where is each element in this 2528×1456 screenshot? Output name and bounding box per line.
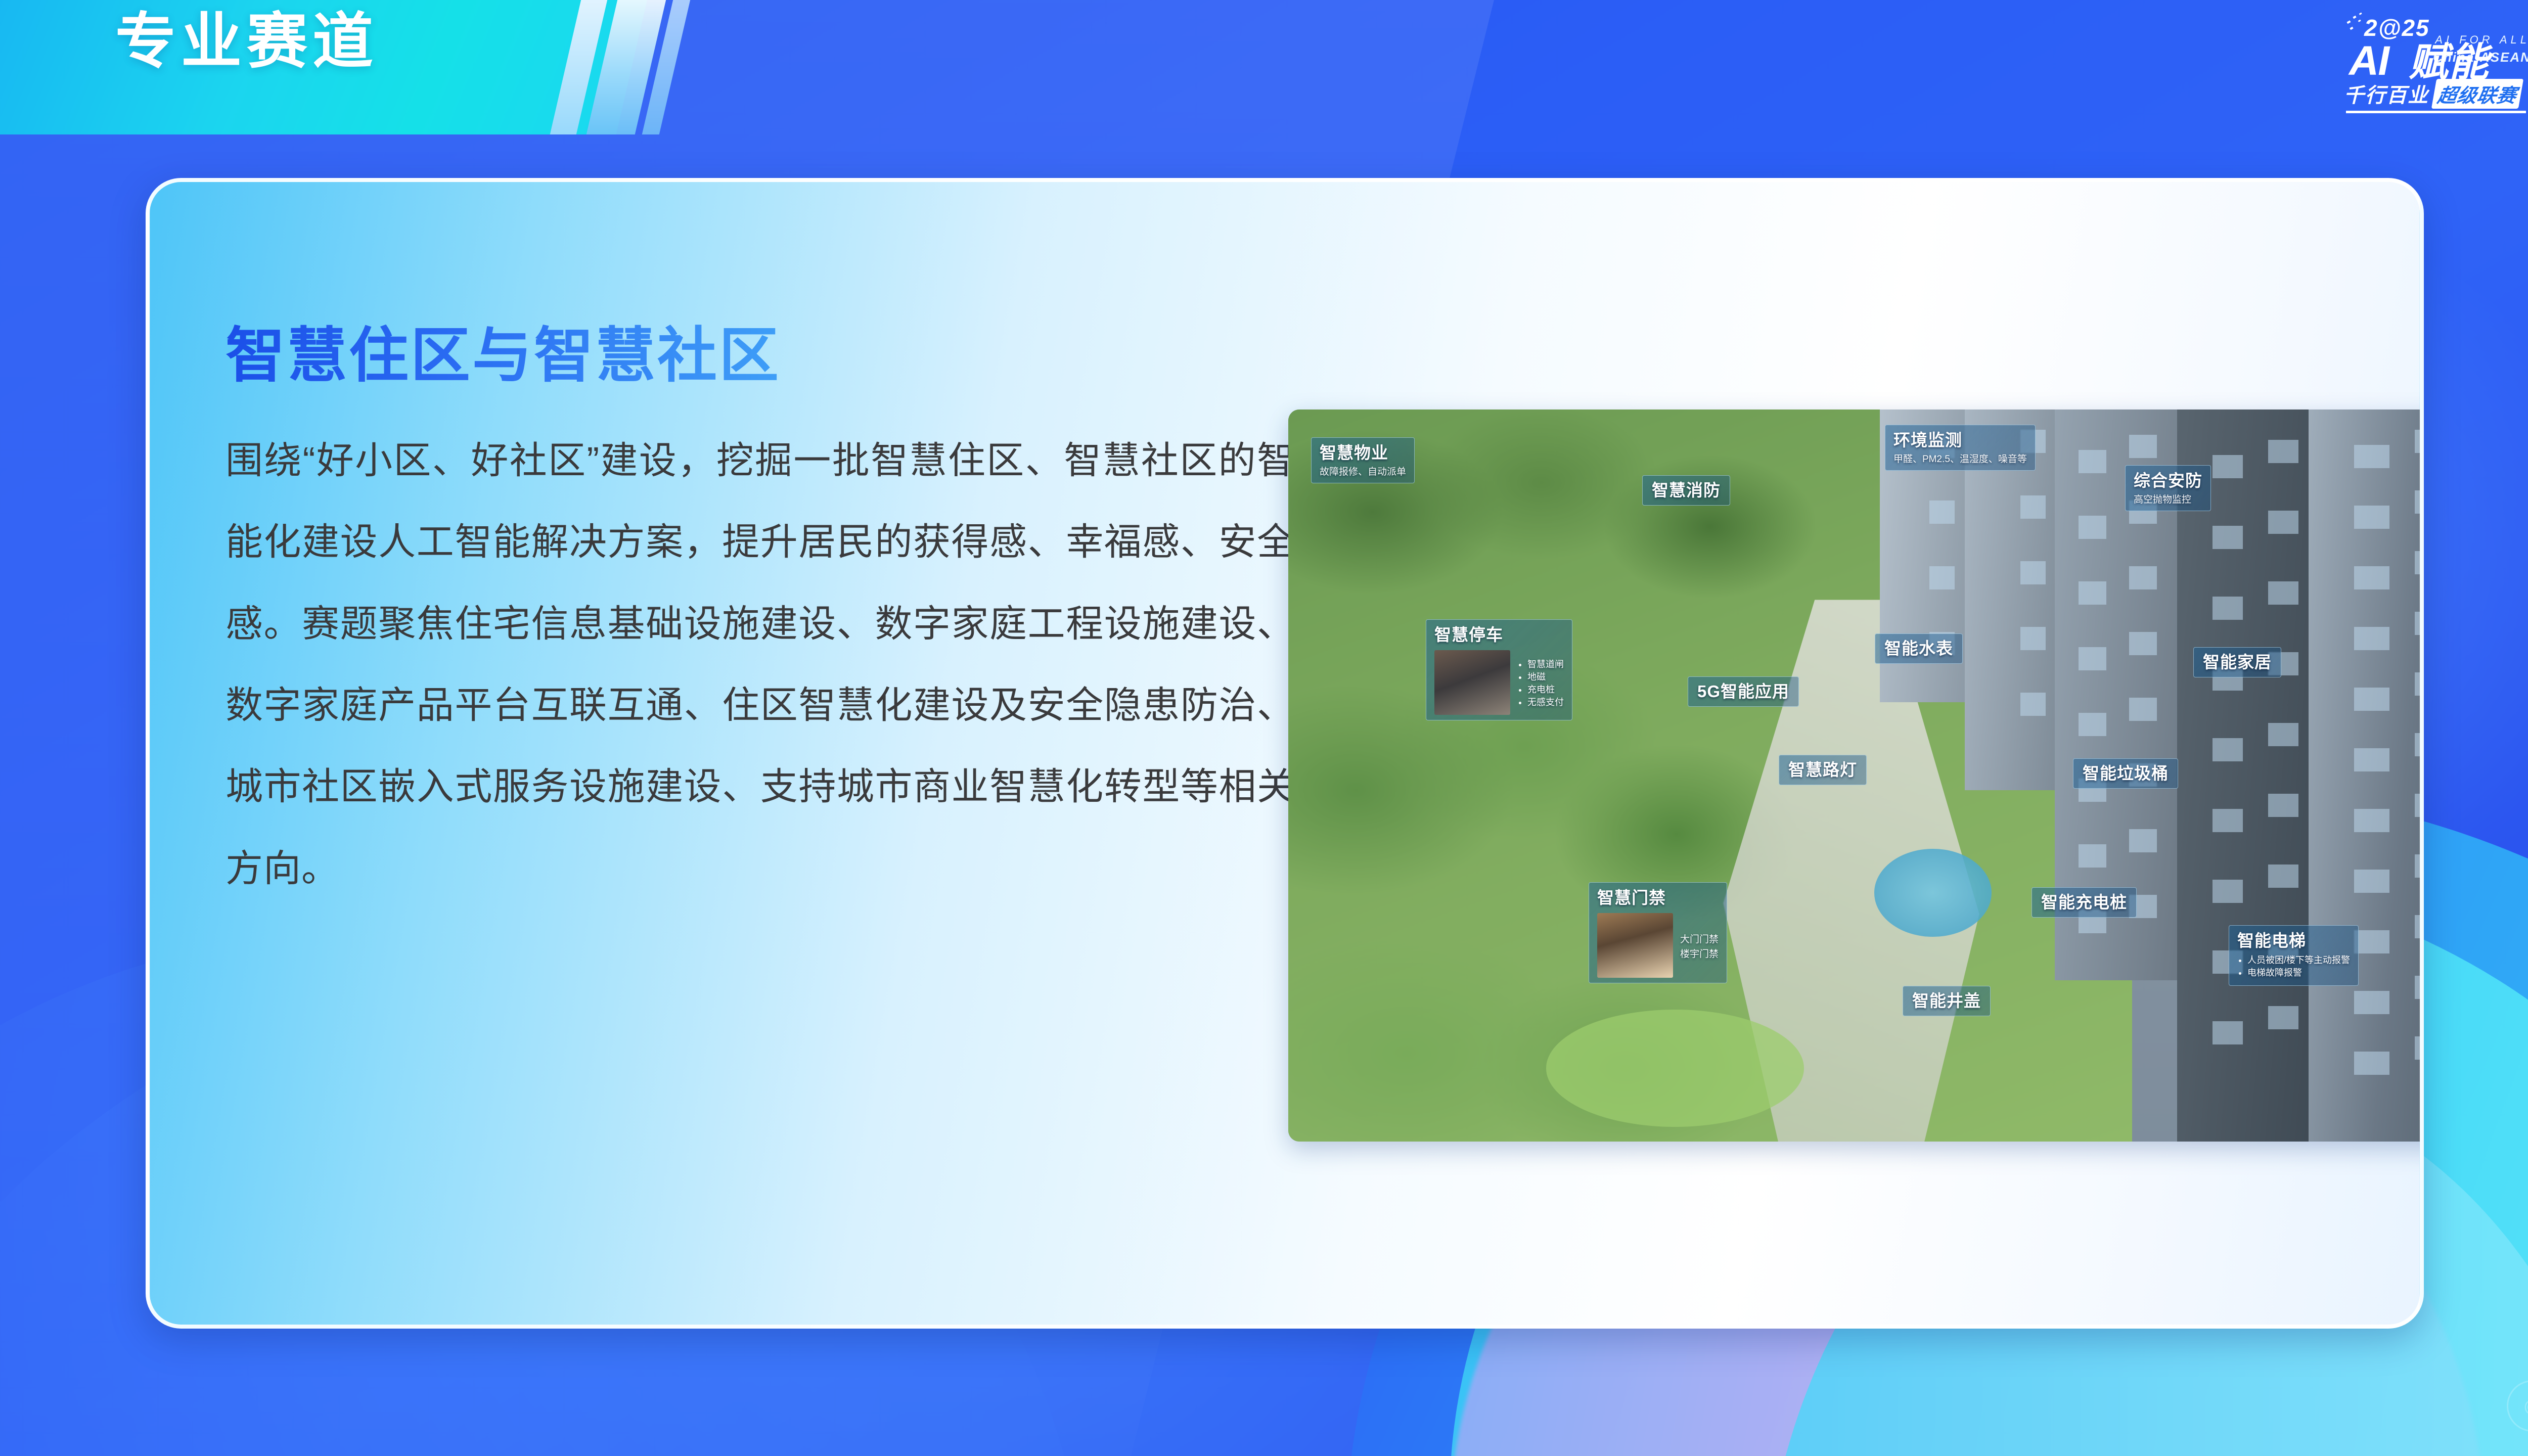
window [2213, 809, 2243, 832]
callout-list-item: 无感支付 [1527, 697, 1564, 708]
window [2213, 880, 2243, 903]
body-text: 围绕“好小区、好社区”建设，挖掘一批智慧住区、智慧社区的智能化建设人工智能解决方… [225, 420, 1295, 909]
window [2129, 435, 2157, 458]
logo-year: 2@25 [2364, 14, 2430, 41]
callout-title: 智能水表 [1884, 639, 1953, 659]
callout-title: 智慧消防 [1652, 480, 1721, 500]
body-paragraph: 围绕“好小区、好社区”建设，挖掘一批智慧住区、智慧社区的智能化建设人工智能解决方… [225, 420, 1295, 909]
callout-title: 智能家居 [2203, 652, 2272, 672]
window [2129, 698, 2157, 721]
window [2213, 597, 2243, 620]
callout-list-item: 智慧道闸 [1527, 659, 1564, 670]
callout-title: 智能充电桩 [2041, 892, 2127, 913]
lawn [1546, 1010, 1804, 1127]
logo-subtitle-bar: 千行百业 超级联赛 [2344, 81, 2528, 106]
callout-subtitle: 故障报修、自动派单 [1320, 466, 1406, 478]
callout-title: 环境监测 [1893, 430, 2027, 450]
callout-subtitle: 楼宇门禁 [1680, 948, 1719, 960]
callout-smart-parking: 智慧停车智慧道闸地磁充电桩无感支付 [1426, 619, 1572, 720]
page-title: 智慧住区与智慧社区 [225, 324, 781, 389]
pond [1874, 849, 1992, 937]
callout-detail: 智慧道闸地磁充电桩无感支付 [1517, 655, 1564, 710]
window [2213, 738, 2243, 761]
window [2415, 490, 2424, 514]
callout-detail: 大门门禁楼宇门禁 [1680, 931, 1719, 960]
window [2020, 627, 2046, 650]
callout-title: 智慧停车 [1434, 625, 1564, 645]
callout-title: 智能井盖 [1912, 991, 1981, 1011]
header-title: 专业赛道 [115, 11, 378, 72]
window [2268, 864, 2298, 888]
callout-title: 智慧物业 [1320, 443, 1406, 463]
callout-ev-charging: 智能充电桩 [2032, 887, 2137, 918]
callout-title: 综合安防 [2134, 471, 2202, 491]
window [2354, 930, 2389, 953]
window [2020, 561, 2046, 584]
callout-5g-app: 5G智能应用 [1688, 676, 1799, 707]
callout-thumbnail [1434, 650, 1510, 715]
window [2415, 915, 2424, 938]
callout-smart-manhole: 智能井盖 [1903, 986, 1991, 1016]
window [2129, 566, 2157, 589]
window [2354, 991, 2389, 1014]
window [2268, 1006, 2298, 1029]
callout-title: 5G智能应用 [1697, 681, 1789, 702]
window [2354, 870, 2389, 893]
window [2079, 647, 2106, 670]
window [2415, 430, 2424, 453]
window [2415, 733, 2424, 756]
window [2129, 829, 2157, 852]
callout-list-item: 充电桩 [1527, 685, 1564, 696]
content-card: 智慧住区与智慧社区 围绕“好小区、好社区”建设，挖掘一批智慧住区、智慧社区的智能… [146, 178, 2424, 1329]
window [2079, 581, 2106, 605]
window [2268, 440, 2298, 463]
callout-list: 智慧道闸地磁充电桩无感支付 [1517, 659, 1564, 708]
logo-ai-text: AI [2349, 40, 2388, 82]
callout-subtitle: 高空抛物监控 [2134, 494, 2202, 506]
window [2415, 976, 2424, 999]
window [2213, 526, 2243, 549]
window [2268, 511, 2298, 534]
window [2354, 1052, 2389, 1075]
window [2415, 672, 2424, 696]
window [2268, 723, 2298, 746]
window [2354, 688, 2389, 711]
window [2020, 693, 2046, 716]
window [2415, 1036, 2424, 1060]
logo-name-cn: 赋能 [2409, 42, 2490, 82]
window [2079, 713, 2106, 736]
callout-smart-home: 智能家居 [2193, 647, 2281, 677]
callout-list-item: 电梯故障报警 [2247, 968, 2350, 979]
window [2354, 445, 2389, 468]
window [2079, 450, 2106, 473]
logo-badge-cn: 超级联赛 [2431, 79, 2523, 109]
community-illustration: 智慧物业故障报修、自动派单智慧消防环境监测甲醛、PM2.5、温湿度、噪音等综合安… [1288, 409, 2424, 1142]
callout-list: 人员被困/楼下等主动报警电梯故障报警 [2237, 955, 2350, 979]
window [2354, 748, 2389, 771]
logo-sub-cn: 千行百业 [2344, 79, 2429, 108]
callout-smart-access: 智慧门禁大门门禁楼宇门禁 [1589, 882, 1727, 983]
window [2354, 809, 2389, 832]
callout-smart-streetlight: 智慧路灯 [1779, 755, 1867, 785]
window [2415, 794, 2424, 817]
callout-title: 智能垃圾桶 [2083, 763, 2169, 784]
callout-thumbnail [1597, 913, 1673, 978]
window [2354, 566, 2389, 589]
window [2213, 455, 2243, 478]
window [2129, 632, 2157, 655]
callout-title: 智慧门禁 [1597, 888, 1719, 908]
callout-smart-water-meter: 智能水表 [1875, 633, 1963, 664]
callout-smart-property: 智慧物业故障报修、自动派单 [1311, 437, 1415, 483]
slide-header: 专业赛道 [0, 0, 738, 134]
window [2415, 551, 2424, 574]
callout-title: 智能电梯 [2237, 931, 2350, 951]
window [2268, 794, 2298, 817]
window [2354, 627, 2389, 650]
callout-title: 智慧路灯 [1788, 760, 1857, 780]
window [1929, 500, 1955, 524]
window [2079, 844, 2106, 868]
window [2213, 1021, 2243, 1044]
callout-subtitle: 甲醛、PM2.5、温湿度、噪音等 [1893, 453, 2027, 465]
window [2415, 854, 2424, 878]
logo-underline [2346, 111, 2526, 113]
callout-list-item: 人员被困/楼下等主动报警 [2247, 955, 2350, 966]
callout-smart-elevator: 智能电梯人员被困/楼下等主动报警电梯故障报警 [2229, 925, 2359, 986]
window [2079, 516, 2106, 539]
window [2020, 495, 2046, 519]
window [1929, 566, 1955, 589]
callout-list-item: 地磁 [1527, 672, 1564, 683]
callout-env-monitor: 环境监测甲醛、PM2.5、温湿度、噪音等 [1885, 425, 2036, 471]
window [2415, 612, 2424, 635]
window [2354, 506, 2389, 529]
window [2268, 581, 2298, 605]
event-logo: 2@25 AI FOR ALL China-ASEAN AI 赋能 千行百业 超… [2320, 9, 2528, 115]
callout-integrated-security: 综合安防高空抛物监控 [2125, 465, 2211, 511]
callout-subtitle: 大门门禁 [1680, 934, 1719, 945]
callout-smart-trash: 智能垃圾桶 [2073, 758, 2178, 789]
callout-smart-fire: 智慧消防 [1642, 475, 1730, 506]
